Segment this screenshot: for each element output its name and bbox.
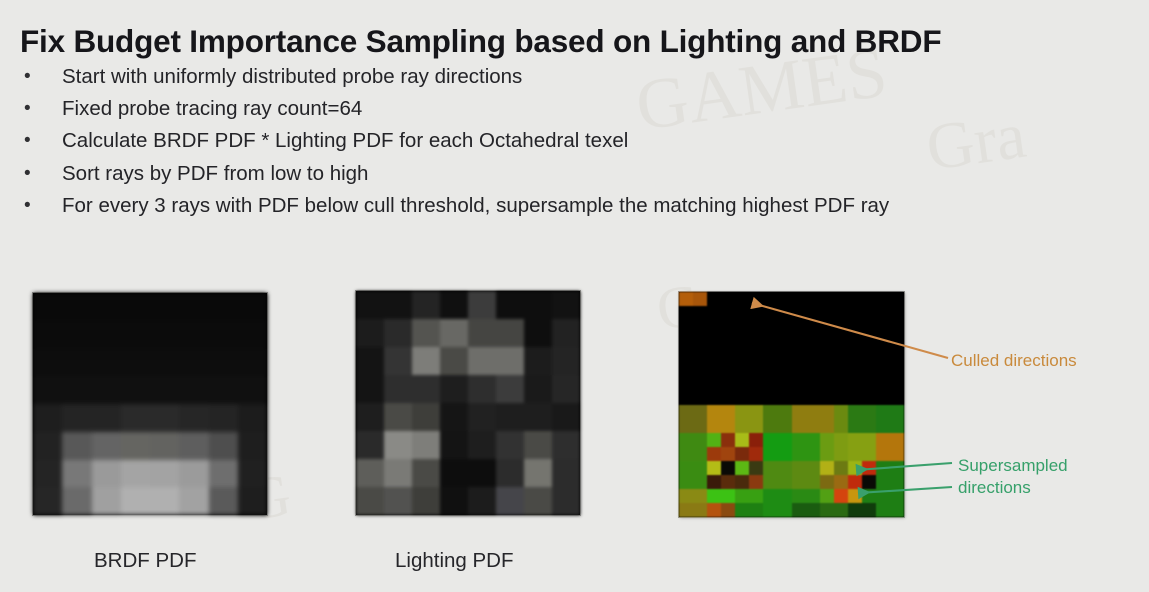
bullet-marker-icon: • [22, 62, 62, 92]
bullet-text: Sort rays by PDF from low to high [62, 159, 368, 189]
supersampled-label-line2: directions [958, 477, 1068, 499]
slide-root: Fix Budget Importance Sampling based on … [0, 0, 1149, 592]
figure-caption-brdf: BRDF PDF [94, 549, 197, 573]
supersampled-label-line1: Supersampled [958, 455, 1068, 477]
bullet-item: • Start with uniformly distributed probe… [22, 62, 1132, 94]
bullet-text: Fixed probe tracing ray count=64 [62, 94, 362, 124]
supersampled-directions-label: Supersampled directions [958, 455, 1068, 499]
bullet-item: • Calculate BRDF PDF * Lighting PDF for … [22, 126, 1132, 158]
bullet-text: For every 3 rays with PDF below cull thr… [62, 191, 889, 221]
culled-directions-label: Culled directions [951, 350, 1077, 372]
bullet-item: • Fixed probe tracing ray count=64 [22, 94, 1132, 126]
slide-title: Fix Budget Importance Sampling based on … [20, 23, 941, 60]
combined-pdf-texel-grid [679, 292, 904, 517]
bullet-item: • For every 3 rays with PDF below cull t… [22, 191, 1132, 223]
bullet-marker-icon: • [22, 94, 62, 124]
figure-combined-pdf [679, 292, 904, 517]
figure-caption-lighting: Lighting PDF [395, 549, 514, 573]
brdf-pdf-texel-grid [33, 293, 267, 515]
bullet-text: Calculate BRDF PDF * Lighting PDF for ea… [62, 126, 628, 156]
bullet-text: Start with uniformly distributed probe r… [62, 62, 522, 92]
figure-brdf-pdf [33, 293, 267, 515]
bullet-item: • Sort rays by PDF from low to high [22, 159, 1132, 191]
figure-lighting-pdf [356, 291, 580, 515]
bullet-marker-icon: • [22, 191, 62, 221]
bullet-list: • Start with uniformly distributed probe… [22, 62, 1132, 223]
lighting-pdf-texel-grid [356, 291, 580, 515]
bullet-marker-icon: • [22, 159, 62, 189]
bullet-marker-icon: • [22, 126, 62, 156]
